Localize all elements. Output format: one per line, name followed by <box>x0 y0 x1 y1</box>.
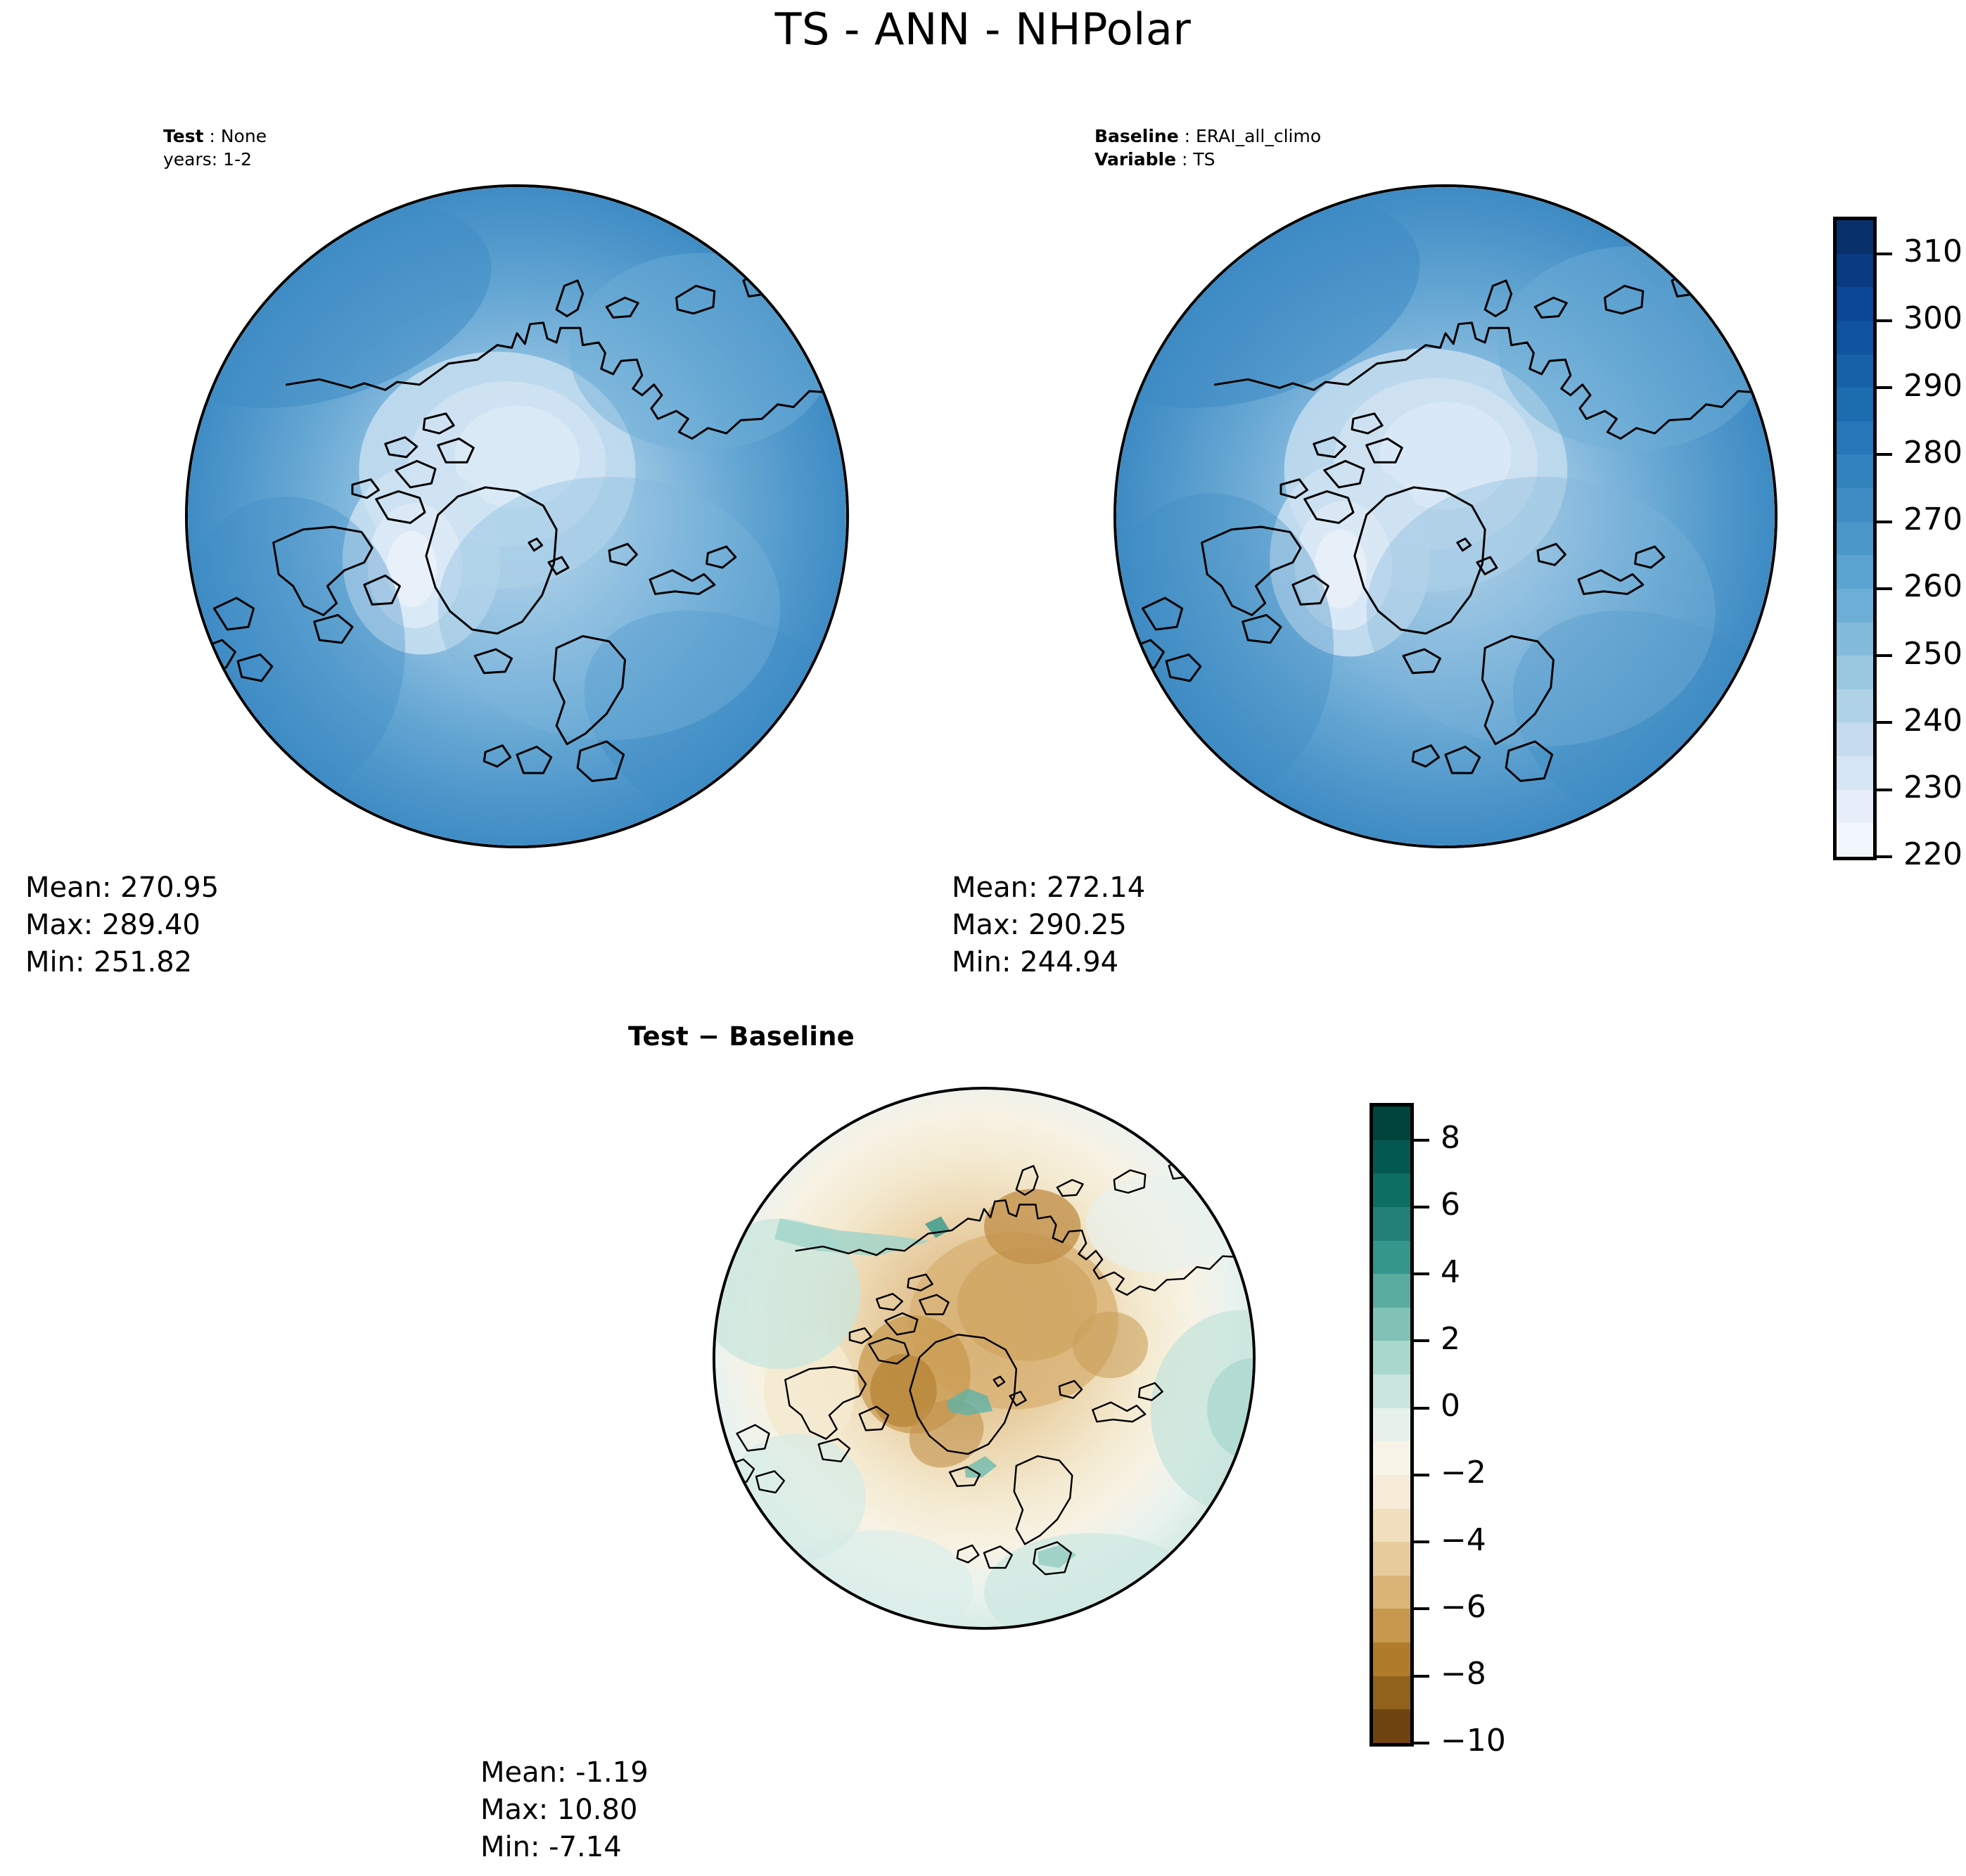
test-meta-value: None <box>221 126 267 146</box>
colorbar-band <box>1837 421 1873 455</box>
baseline-meta-value: ERAI_all_climo <box>1196 126 1321 146</box>
colorbar-band <box>1837 388 1873 421</box>
colorbar-band <box>1373 1241 1410 1275</box>
figure-canvas: TS - ANN - NHPolar Test : None years: 1-… <box>0 0 1966 1876</box>
colorbar-tick-label: −6 <box>1441 1592 1486 1623</box>
colorbar-difference-gradient <box>1370 1103 1414 1747</box>
baseline-panel-metadata: Baseline : ERAI_all_climo Variable : TS <box>1094 125 1321 171</box>
colorbar-tick <box>1414 1272 1429 1275</box>
colorbar-band <box>1837 488 1873 522</box>
colorbar-tick <box>1877 587 1892 590</box>
colorbar-tick <box>1414 1540 1429 1543</box>
colorbar-band <box>1837 355 1873 388</box>
colorbar-tick <box>1877 855 1892 858</box>
colorbar-tick <box>1877 453 1892 456</box>
colorbar-tick-label: 8 <box>1441 1123 1460 1154</box>
difference-panel-title: Test − Baseline <box>628 1021 855 1052</box>
colorbar-tick-label: 280 <box>1903 438 1962 468</box>
colorbar-tick-label: 2 <box>1441 1324 1460 1355</box>
colorbar-band <box>1837 220 1873 254</box>
colorbar-tick-label: −2 <box>1441 1457 1486 1488</box>
colorbar-band <box>1837 790 1873 824</box>
colorbar-band <box>1837 722 1873 756</box>
baseline-meta-line: Baseline : ERAI_all_climo <box>1094 125 1321 148</box>
colorbar-tick <box>1414 1206 1429 1208</box>
stats-baseline: Mean: 272.14 Max: 290.25 Min: 244.94 <box>952 869 1145 982</box>
colorbar-tick <box>1877 253 1892 255</box>
page-title: TS - ANN - NHPolar <box>0 4 1966 55</box>
colorbar-tick <box>1414 1742 1429 1744</box>
test-years-line: years: 1-2 <box>163 148 267 172</box>
colorbar-band <box>1373 1374 1410 1408</box>
colorbar-band <box>1373 1308 1410 1341</box>
colorbar-band <box>1373 1709 1410 1743</box>
colorbar-band <box>1837 823 1873 857</box>
colorbar-tick <box>1414 1675 1429 1678</box>
colorbar-band <box>1373 1475 1410 1509</box>
colorbar-tick-label: 250 <box>1903 639 1962 670</box>
colorbar-band <box>1373 1106 1410 1140</box>
colorbar-tick <box>1877 319 1892 322</box>
colorbar-tick-label: 230 <box>1903 772 1962 803</box>
colorbar-band <box>1837 254 1873 288</box>
colorbar-band <box>1837 555 1873 589</box>
variable-meta-value: TS <box>1193 149 1215 170</box>
colorbar-tick <box>1414 1407 1429 1410</box>
colorbar-band <box>1373 1140 1410 1174</box>
colorbar-tick <box>1877 521 1892 523</box>
colorbar-band <box>1837 656 1873 689</box>
colorbar-tick-label: 240 <box>1903 706 1962 736</box>
colorbar-band <box>1373 1274 1410 1308</box>
colorbar-tick <box>1414 1474 1429 1476</box>
colorbar-band <box>1373 1609 1410 1642</box>
test-meta-line: Test : None <box>163 125 267 148</box>
colorbar-band <box>1373 1408 1410 1442</box>
variable-meta-label: Variable <box>1094 149 1176 170</box>
colorbar-tick-label: 260 <box>1903 571 1962 602</box>
colorbar-band <box>1837 623 1873 656</box>
colorbar-tick <box>1414 1339 1429 1342</box>
colorbar-band <box>1373 1542 1410 1576</box>
colorbar-tick-label: 300 <box>1903 303 1962 334</box>
colorbar-tick <box>1877 789 1892 791</box>
colorbar-tick <box>1414 1607 1429 1610</box>
map-test-panel <box>185 184 849 848</box>
colorbar-tick-label: −10 <box>1441 1725 1506 1756</box>
stats-difference: Mean: -1.19 Max: 10.80 Min: -7.14 <box>480 1754 649 1867</box>
colorbar-tick-label: 290 <box>1903 371 1962 402</box>
colorbar-band <box>1837 756 1873 790</box>
baseline-meta-sep: : <box>1179 126 1196 146</box>
colorbar-band <box>1373 1509 1410 1543</box>
baseline-meta-label: Baseline <box>1094 126 1179 146</box>
colorbar-band <box>1373 1441 1410 1475</box>
map-baseline-svg <box>1116 187 1775 846</box>
test-panel-metadata: Test : None years: 1-2 <box>163 125 267 171</box>
colorbar-tick <box>1877 721 1892 724</box>
colorbar-tick-label: 0 <box>1441 1391 1460 1422</box>
colorbar-band <box>1373 1207 1410 1241</box>
variable-meta-sep: : <box>1176 149 1193 170</box>
colorbar-tick-label: −4 <box>1441 1525 1486 1556</box>
test-meta-sep: : <box>204 126 221 146</box>
map-difference-panel <box>713 1087 1256 1630</box>
colorbar-band <box>1837 287 1873 321</box>
colorbar-band <box>1837 689 1873 723</box>
test-meta-label: Test <box>163 126 204 146</box>
colorbar-tick <box>1414 1139 1429 1142</box>
map-test-svg <box>188 187 846 846</box>
colorbar-tick-label: 6 <box>1441 1189 1460 1220</box>
colorbar-band <box>1837 589 1873 623</box>
colorbar-tick <box>1877 654 1892 657</box>
colorbar-band <box>1837 522 1873 556</box>
colorbar-tick-label: 270 <box>1903 504 1962 535</box>
colorbar-band <box>1373 1676 1410 1710</box>
colorbar-tick-label: 310 <box>1903 236 1962 267</box>
colorbar-main-gradient <box>1833 217 1877 860</box>
colorbar-band <box>1373 1341 1410 1374</box>
colorbar-tick-label: 4 <box>1441 1257 1460 1288</box>
colorbar-tick-label: −8 <box>1441 1659 1486 1690</box>
colorbar-band <box>1837 321 1873 355</box>
colorbar-tick <box>1877 386 1892 389</box>
colorbar-band <box>1373 1642 1410 1676</box>
colorbar-band <box>1837 454 1873 488</box>
map-difference-svg <box>715 1090 1253 1627</box>
colorbar-tick-label: 220 <box>1903 839 1962 870</box>
colorbar-band <box>1373 1173 1410 1207</box>
colorbar-band <box>1373 1576 1410 1609</box>
variable-meta-line: Variable : TS <box>1094 148 1321 172</box>
map-baseline-panel <box>1113 184 1777 848</box>
stats-test: Mean: 270.95 Max: 289.40 Min: 251.82 <box>25 869 219 982</box>
